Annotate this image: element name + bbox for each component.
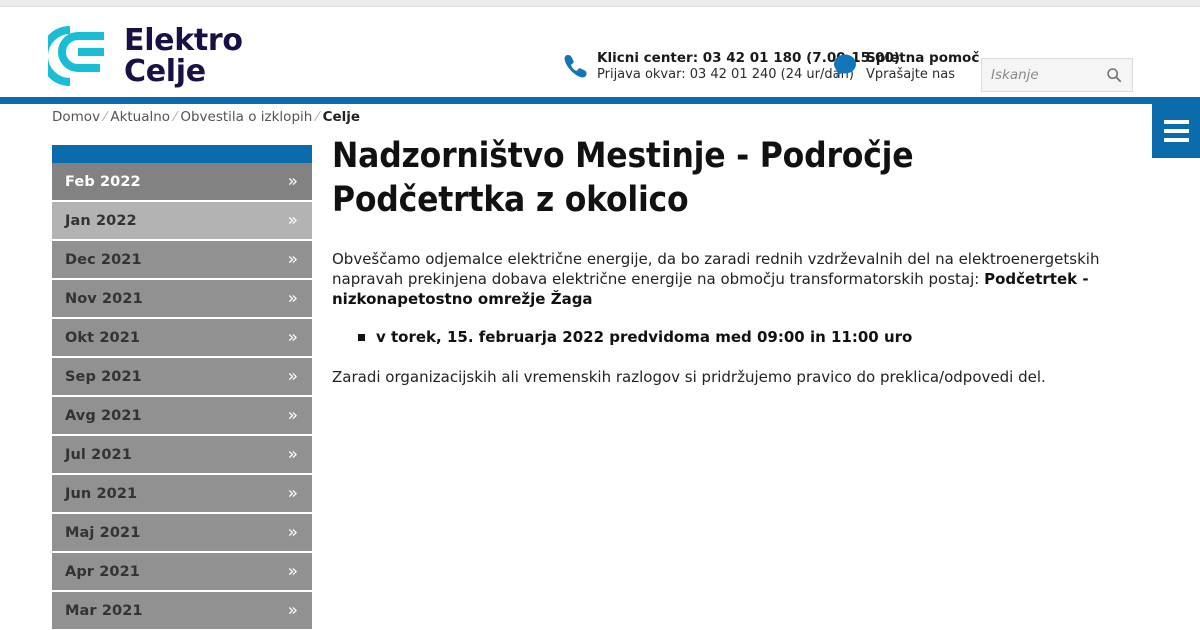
double-chevron-right-icon: » [288, 407, 298, 424]
double-chevron-right-icon: » [288, 290, 298, 307]
double-chevron-right-icon: » [288, 563, 298, 580]
sidebar-item-label: Feb 2022 [65, 174, 141, 190]
sidebar-item-dec-2021[interactable]: Dec 2021» [52, 241, 312, 280]
outage-times-list: v torek, 15. februarja 2022 predvidoma m… [358, 327, 1132, 347]
main-content: Nadzorništvo Mestinje - Področje Podčetr… [332, 134, 1132, 387]
chat-subtitle: Vprašajte nas [866, 68, 979, 81]
search-input[interactable] [991, 60, 1099, 90]
sidebar-item-label: Maj 2021 [65, 525, 140, 541]
hamburger-bar [1164, 129, 1189, 133]
phone-icon [563, 52, 589, 80]
hamburger-bar [1164, 138, 1189, 142]
contact-chat-block[interactable]: Spletna pomoč Vprašajte nas [832, 52, 979, 81]
breadcrumb-item-aktualno[interactable]: Aktualno [110, 109, 170, 125]
chat-bubble-icon [832, 52, 858, 80]
contact-chat-text: Spletna pomoč Vprašajte nas [866, 52, 979, 81]
disclaimer-text: Zaradi organizacijskih ali vremenskih ra… [332, 367, 1132, 387]
sidebar-item-label: Nov 2021 [65, 291, 143, 307]
sidebar-item-label: Mar 2021 [65, 603, 143, 619]
sidebar-item-sep-2021[interactable]: Sep 2021» [52, 358, 312, 397]
double-chevron-right-icon: » [288, 173, 298, 190]
sidebar-item-label: Jan 2022 [65, 213, 137, 229]
hamburger-bar [1164, 120, 1189, 124]
sidebar-item-nov-2021[interactable]: Nov 2021» [52, 280, 312, 319]
sidebar-item-avg-2021[interactable]: Avg 2021» [52, 397, 312, 436]
sidebar-item-jan-2022[interactable]: Jan 2022» [52, 202, 312, 241]
logo-line-2: Celje [124, 54, 206, 89]
page-root: Elektro Celje Klicni center: 03 42 01 18… [0, 0, 1200, 630]
archive-sidebar: Feb 2022»Jan 2022»Dec 2021»Nov 2021»Okt … [52, 145, 312, 630]
breadcrumb-item-domov[interactable]: Domov [52, 109, 100, 125]
breadcrumb: Domov⁄Aktualno⁄Obvestila o izklopih⁄Celj… [52, 109, 360, 125]
elektro-celje-e-mark-icon [48, 22, 112, 90]
site-logo[interactable]: Elektro Celje [48, 22, 243, 90]
sidebar-item-feb-2022[interactable]: Feb 2022» [52, 163, 312, 202]
sidebar-item-okt-2021[interactable]: Okt 2021» [52, 319, 312, 358]
breadcrumb-separator: ⁄ [104, 109, 106, 125]
sidebar-item-apr-2021[interactable]: Apr 2021» [52, 553, 312, 592]
search-button[interactable] [1099, 60, 1129, 90]
double-chevron-right-icon: » [288, 602, 298, 619]
double-chevron-right-icon: » [288, 368, 298, 385]
breadcrumb-separator: ⁄ [174, 109, 176, 125]
sidebar-header-bar [52, 145, 312, 163]
sidebar-item-mar-2021[interactable]: Mar 2021» [52, 592, 312, 630]
sidebar-item-label: Apr 2021 [65, 564, 140, 580]
double-chevron-right-icon: » [288, 329, 298, 346]
site-header: Elektro Celje Klicni center: 03 42 01 18… [0, 8, 1200, 97]
breadcrumb-item-obvestila-o-izklopih[interactable]: Obvestila o izklopih [180, 109, 312, 125]
top-strip [0, 0, 1200, 7]
outage-time-item: v torek, 15. februarja 2022 predvidoma m… [358, 327, 1132, 347]
sidebar-item-label: Jul 2021 [65, 447, 132, 463]
sidebar-item-label: Avg 2021 [65, 408, 142, 424]
search-icon [1106, 67, 1122, 83]
header-blue-divider [0, 97, 1200, 104]
logo-line-1: Elektro [124, 23, 243, 58]
logo-wordmark: Elektro Celje [124, 25, 243, 87]
double-chevron-right-icon: » [288, 485, 298, 502]
chat-title: Spletna pomoč [866, 52, 979, 66]
search-box[interactable] [981, 58, 1133, 92]
sidebar-item-label: Sep 2021 [65, 369, 142, 385]
sidebar-item-label: Okt 2021 [65, 330, 140, 346]
double-chevron-right-icon: » [288, 446, 298, 463]
breadcrumb-item-celje: Celje [323, 109, 360, 125]
sidebar-item-label: Jun 2021 [65, 486, 137, 502]
breadcrumb-separator: ⁄ [316, 109, 318, 125]
notice-paragraph: Obveščamo odjemalce električne energije,… [332, 249, 1132, 309]
page-title: Nadzorništvo Mestinje - Področje Podčetr… [332, 134, 1092, 222]
double-chevron-right-icon: » [288, 524, 298, 541]
sidebar-item-label: Dec 2021 [65, 252, 142, 268]
sidebar-item-jul-2021[interactable]: Jul 2021» [52, 436, 312, 475]
sidebar-item-jun-2021[interactable]: Jun 2021» [52, 475, 312, 514]
double-chevron-right-icon: » [288, 251, 298, 268]
double-chevron-right-icon: » [288, 212, 298, 229]
hamburger-menu-icon[interactable] [1152, 104, 1200, 158]
sidebar-item-maj-2021[interactable]: Maj 2021» [52, 514, 312, 553]
